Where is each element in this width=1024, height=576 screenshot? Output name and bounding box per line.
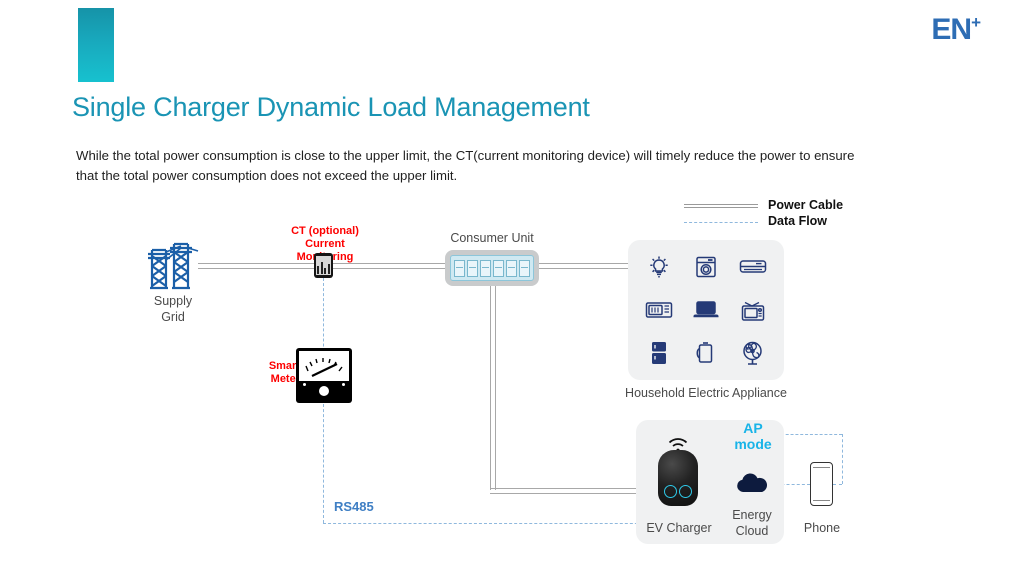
smartphone-icon	[810, 462, 833, 506]
energy-cloud-label: Energy Cloud	[722, 508, 782, 539]
fan-icon	[738, 338, 768, 368]
accent-bar	[78, 8, 114, 82]
charger-sockets	[664, 485, 692, 498]
appliance-icon-grid	[636, 246, 776, 374]
kettle-icon	[691, 338, 721, 368]
breaker-switch	[493, 260, 504, 277]
slide-canvas: EN+ Single Charger Dynamic Load Manageme…	[0, 0, 1024, 576]
breaker-switch	[506, 260, 517, 277]
refrigerator-icon	[644, 338, 674, 368]
ev-charger-label: EV Charger	[634, 521, 724, 537]
power-cable-consumer-unit-drop	[490, 286, 496, 490]
ev-charger-icon	[658, 450, 698, 506]
logo-text: EN	[931, 13, 971, 46]
transmission-tower-icon	[140, 238, 204, 294]
data-flow-into-phone-right	[833, 484, 842, 485]
ap-mode-label: AP mode	[730, 420, 776, 452]
phone-label: Phone	[792, 521, 852, 537]
analog-gauge-icon	[296, 348, 352, 403]
breaker-box-icon	[445, 250, 539, 286]
legend: Power Cable Data Flow	[684, 198, 884, 230]
television-icon	[738, 295, 768, 325]
power-cable-to-ev-charger-panel	[490, 488, 636, 494]
phone-screen	[813, 467, 830, 501]
charger-socket	[679, 485, 692, 498]
lightbulb-icon	[644, 252, 674, 282]
supply-grid-label: Supply Grid	[133, 294, 213, 325]
air-conditioner-icon	[738, 252, 768, 282]
charger-socket	[664, 485, 677, 498]
power-cable-swatch-icon	[684, 202, 758, 210]
gauge-knob	[319, 386, 329, 396]
consumer-unit-label: Consumer Unit	[445, 231, 539, 247]
cloud-icon	[734, 470, 770, 496]
laptop-icon	[691, 295, 721, 325]
data-flow-phone-right-drop	[842, 434, 843, 484]
power-cable-consumer-unit-to-appliances	[539, 263, 636, 269]
data-flow-rs485-to-ev-charger	[323, 523, 658, 524]
legend-item-power-cable: Power Cable	[684, 198, 884, 214]
legend-label-data-flow: Data Flow	[768, 214, 827, 228]
breaker-switch	[467, 260, 478, 277]
breaker-switch	[519, 260, 530, 277]
rs485-label: RS485	[334, 499, 374, 514]
legend-item-data-flow: Data Flow	[684, 214, 884, 230]
data-flow-ap-mode-to-phone-top	[776, 434, 842, 435]
breaker-switch	[480, 260, 491, 277]
consumer-unit-panel	[450, 255, 534, 281]
page-subtitle: While the total power consumption is clo…	[76, 146, 876, 187]
washing-machine-icon	[691, 252, 721, 282]
legend-label-power-cable: Power Cable	[768, 198, 843, 212]
brand-logo: EN+	[931, 14, 980, 45]
gauge-base	[299, 381, 349, 400]
page-title: Single Charger Dynamic Load Management	[72, 92, 590, 123]
gauge-dial	[299, 351, 349, 381]
logo-plus: +	[971, 13, 980, 32]
ct-meter-icon	[314, 253, 333, 278]
appliance-panel-label: Household Electric Appliance	[600, 386, 812, 402]
data-flow-swatch-icon	[684, 218, 758, 226]
breaker-switch	[454, 260, 465, 277]
smart-meter-label: Smart Meter	[250, 360, 300, 386]
ct-face	[316, 256, 331, 275]
microwave-icon	[644, 295, 674, 325]
